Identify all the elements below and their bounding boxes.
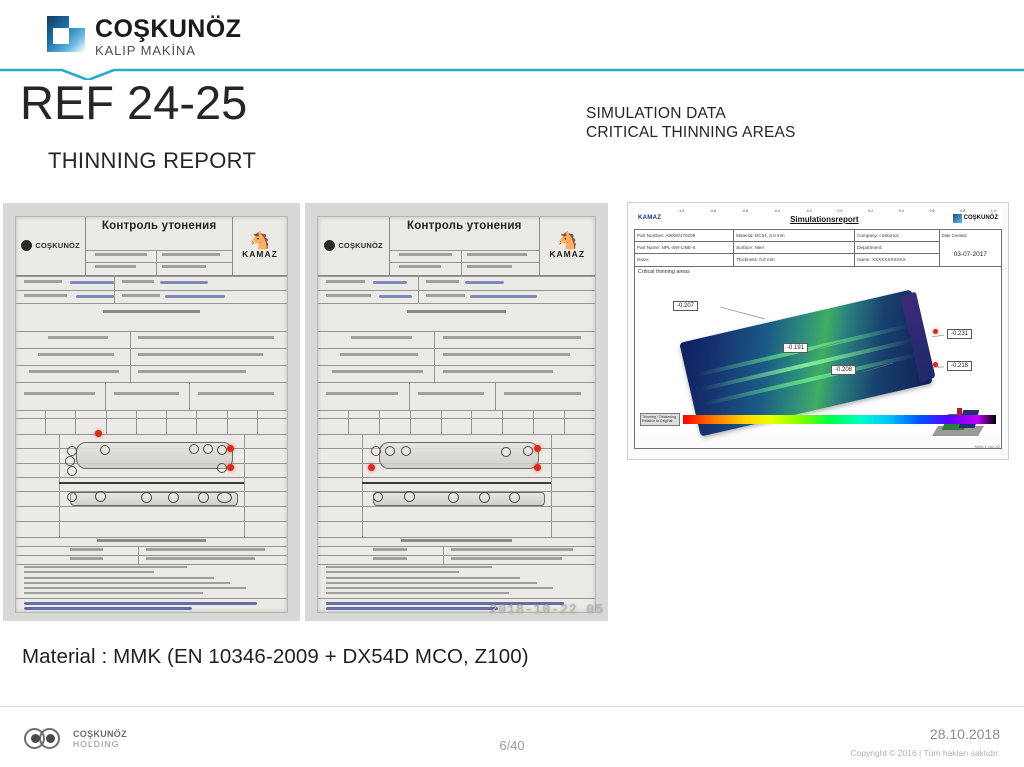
report-brand-cell: COŞKUNÖZ <box>318 217 390 275</box>
legend-tick-row: -1.0 -0.8 -0.6 -0.4 -0.2 0.0 0.2 0.4 0.6… <box>678 209 996 417</box>
footer-copyright: Copyright © 2016 | Tüm hakları saklıdır. <box>850 748 1000 758</box>
report-sheet: COŞKUNÖZ Контроль утонения 🐴 K <box>317 216 596 613</box>
legend-tick: -0.6 <box>742 209 748 417</box>
report-column-headers <box>318 410 595 434</box>
legend-tick: 0.0 <box>837 209 842 417</box>
report-notes-block <box>16 564 287 611</box>
report-location-block <box>16 537 287 565</box>
report-levels-block <box>16 331 287 382</box>
legend-tick: 0.2 <box>868 209 873 417</box>
report-instrument-row <box>318 382 595 410</box>
report-customer-cell: 🐴 KAMAZ <box>233 217 287 275</box>
brand-division: KALIP MAKİNA <box>95 43 241 58</box>
simulation-report-page: KAMAZ Simulationsreport COŞKUNÖZ Part Nu… <box>634 207 1002 433</box>
report-title-cell: Контроль утонения <box>86 217 232 275</box>
sim-page-footnote: Seite 1 von 32 <box>974 444 1000 449</box>
legend-tick: -0.8 <box>710 209 716 417</box>
legend-tick: -1.0 <box>678 209 684 417</box>
brand-name: COŞKUNÖZ <box>95 17 241 41</box>
report-customer-label: KAMAZ <box>549 249 585 259</box>
thinning-report-photo-left[interactable]: COŞKUNÖZ Контроль утонения 🐴 K <box>3 203 300 621</box>
report-levels-block <box>318 331 595 382</box>
simulation-heading: SIMULATION DATA CRITICAL THINNING AREAS <box>586 104 796 142</box>
report-instrument-row <box>16 382 287 410</box>
report-sheet: COŞKUNÖZ Контроль утонения 🐴 K <box>15 216 288 613</box>
report-customer-cell: 🐴 KAMAZ <box>540 217 595 275</box>
report-doc-title: Контроль утонения <box>390 217 538 232</box>
simulation-heading-line1: SIMULATION DATA <box>586 104 796 123</box>
report-brand-cell: COŞKUNÖZ <box>16 217 87 275</box>
simulation-report-image[interactable]: KAMAZ Simulationsreport COŞKUNÖZ Part Nu… <box>627 202 1009 460</box>
report-header-row: COŞKUNÖZ Контроль утонения 🐴 K <box>16 217 287 276</box>
report-meta-block <box>318 276 595 331</box>
report-header-row: COŞKUNÖZ Контроль утонения 🐴 K <box>318 217 595 276</box>
coskunoz-mark-icon <box>21 240 32 251</box>
brand-logo: COŞKUNÖZ KALIP MAKİNA <box>47 14 241 58</box>
photo-timestamp: 2018-10-22 05 <box>490 602 604 617</box>
report-brand-label: COŞKUNÖZ <box>35 241 80 250</box>
page-title: REF 24-25 <box>20 78 247 128</box>
simulation-heading-line2: CRITICAL THINNING AREAS <box>586 123 796 142</box>
report-meta-block <box>16 276 287 331</box>
legend-tick: 1.0 <box>991 209 996 417</box>
report-column-headers <box>16 410 287 434</box>
material-text: Material : MMK (EN 10346-2009 + DX54D MC… <box>22 645 529 669</box>
legend-tick: 0.4 <box>899 209 904 417</box>
report-title-cell: Контроль утонения <box>390 217 539 275</box>
thinning-report-photo-right[interactable]: COŞKUNÖZ Контроль утонения 🐴 K <box>305 203 608 621</box>
section-subtitle: THINNING REPORT <box>48 148 256 174</box>
legend-tick: -0.2 <box>806 209 812 417</box>
slide-root: COŞKUNÖZ KALIP MAKİNA REF 24-25 THINNING… <box>0 0 1024 767</box>
legend-tick: 0.8 <box>960 209 965 417</box>
legend-tick: -0.4 <box>774 209 780 417</box>
coskunoz-logo-icon <box>47 14 87 54</box>
footer-date: 28.10.2018 <box>930 726 1000 742</box>
coskunoz-mark-icon <box>324 240 335 251</box>
footer-divider <box>0 706 1024 707</box>
kamaz-horse-icon: 🐴 <box>549 233 585 249</box>
report-brand-label: COŞKUNÖZ <box>338 241 383 250</box>
report-customer-label: KAMAZ <box>242 249 278 259</box>
report-drawing-area <box>16 434 287 537</box>
legend-tick: 0.6 <box>930 209 935 417</box>
report-drawing-area <box>318 434 595 537</box>
kamaz-horse-icon: 🐴 <box>242 233 278 249</box>
report-doc-title: Контроль утонения <box>86 217 231 232</box>
legend-label: Thinning / Thickening Relative to Origin… <box>640 413 680 426</box>
report-location-block <box>318 537 595 565</box>
